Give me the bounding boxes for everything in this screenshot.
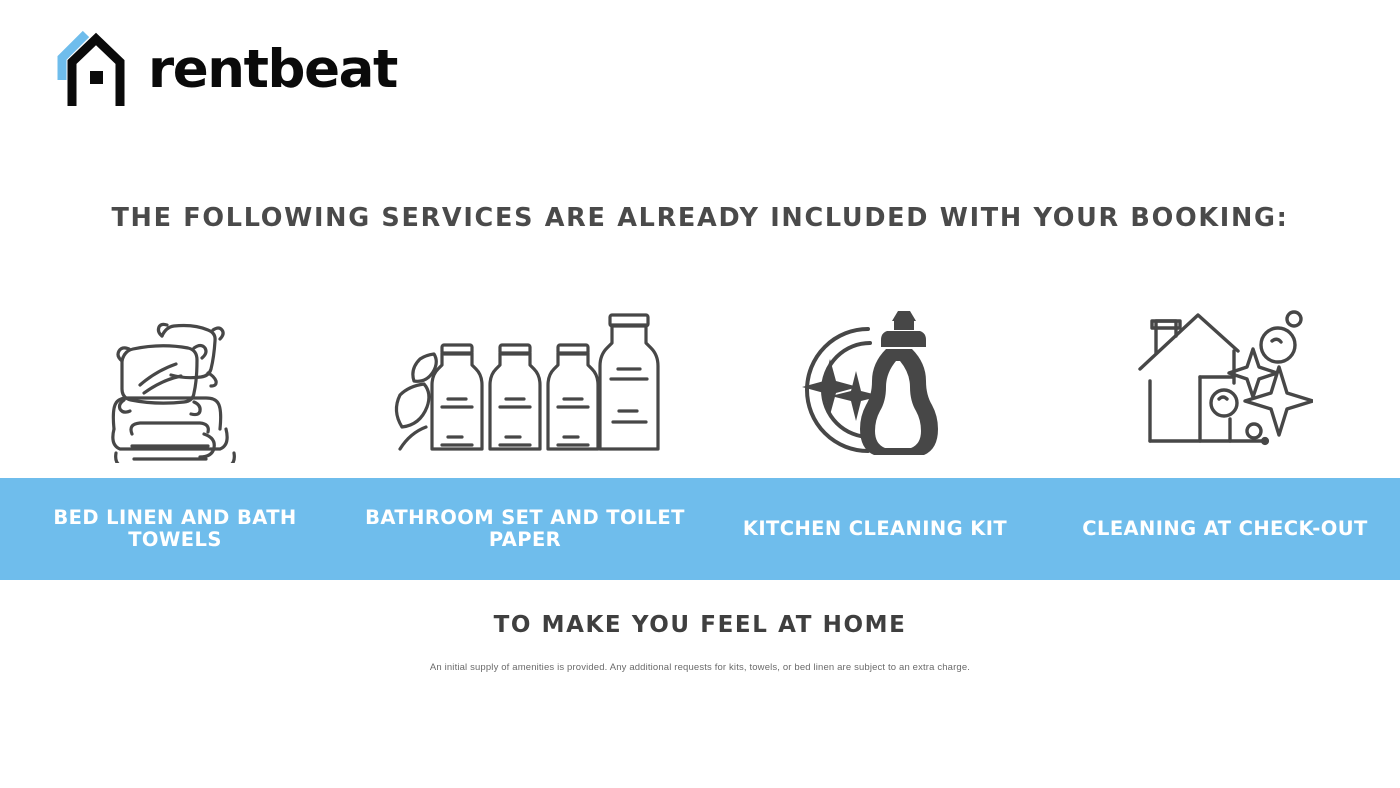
page-title: THE FOLLOWING SERVICES ARE ALREADY INCLU… xyxy=(0,203,1400,233)
service-icon-row xyxy=(0,288,1400,463)
service-label-bed-linen[interactable]: BED LINEN AND BATH TOWELS xyxy=(0,507,350,551)
service-icon-cell xyxy=(0,288,350,463)
toiletry-bottles-leaves-icon xyxy=(390,303,660,463)
service-label-kitchen-kit[interactable]: KITCHEN CLEANING KIT xyxy=(700,518,1050,540)
service-label-bathroom-set[interactable]: BATHROOM SET AND TOILET PAPER xyxy=(350,507,700,551)
footer-subtitle: TO MAKE YOU FEEL AT HOME xyxy=(0,612,1400,638)
folded-towels-pillows-icon xyxy=(100,303,250,463)
brand-logo[interactable]: rentbeat xyxy=(52,28,397,110)
service-icon-cell xyxy=(700,288,1050,463)
service-icon-cell xyxy=(350,288,700,463)
service-label-cleaning-checkout[interactable]: CLEANING AT CHECK-OUT xyxy=(1050,518,1400,540)
service-icon-cell xyxy=(1050,288,1400,463)
sparkling-house-icon xyxy=(1138,303,1313,463)
dish-soap-sparkle-plate-icon xyxy=(798,303,953,463)
slide-canvas: rentbeat THE FOLLOWING SERVICES ARE ALRE… xyxy=(0,0,1400,788)
services-label-band: BED LINEN AND BATH TOWELS BATHROOM SET A… xyxy=(0,478,1400,580)
house-logo-icon xyxy=(52,28,134,110)
brand-wordmark: rentbeat xyxy=(148,43,397,96)
footer-fineprint: An initial supply of amenities is provid… xyxy=(0,662,1400,673)
